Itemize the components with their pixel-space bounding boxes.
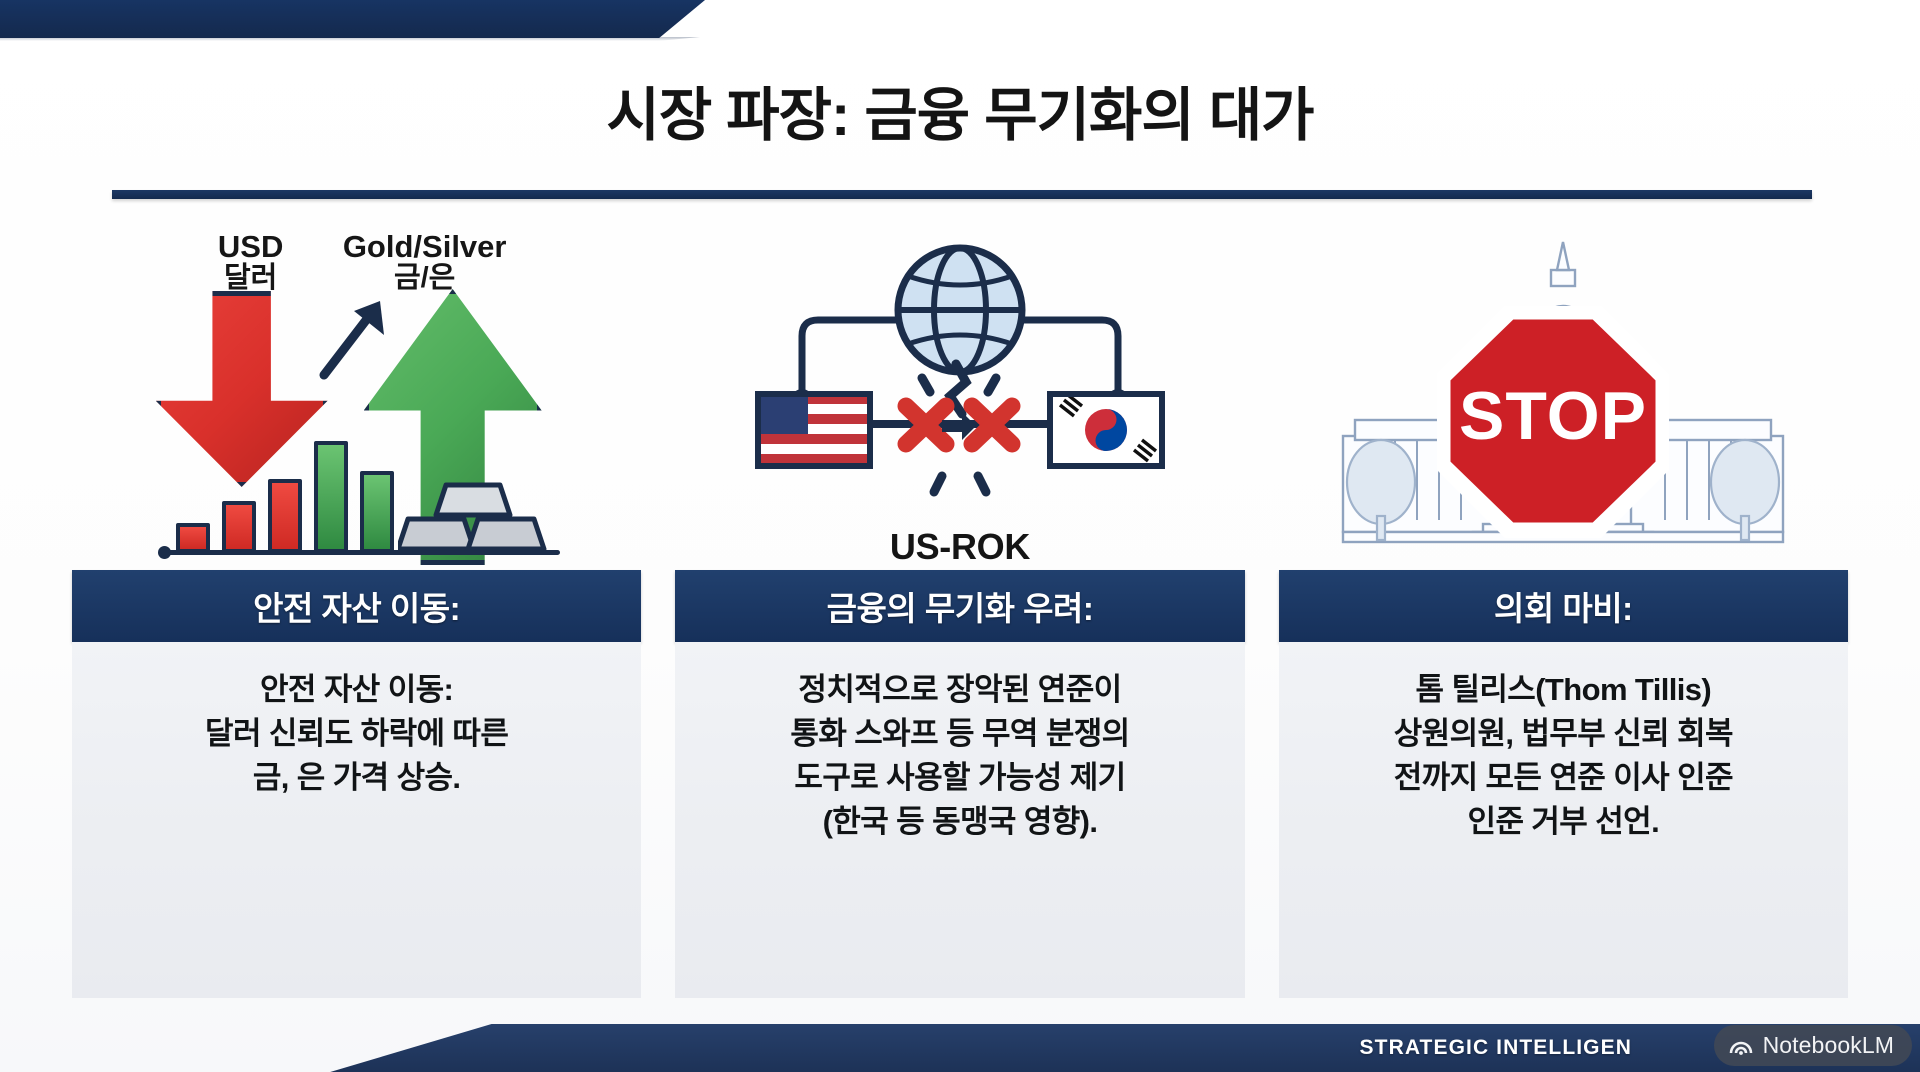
notebooklm-logo-icon	[1728, 1033, 1754, 1059]
globe-icon	[898, 248, 1022, 372]
card-body-text: 안전 자산 이동: 달러 신뢰도 하락에 따른 금, 은 가격 상승.	[86, 668, 627, 800]
korea-flag-icon	[1050, 394, 1162, 466]
alliance-network-diagram	[730, 224, 1190, 524]
label-gold-silver: Gold/Silver 금/은	[310, 231, 540, 293]
page-title: 시장 파장: 금융 무기화의 대가	[0, 68, 1920, 152]
notebooklm-label: NotebookLM	[1763, 1032, 1894, 1059]
title-divider	[112, 190, 1812, 199]
chart-baseline	[160, 550, 560, 555]
gold-bars-icon	[398, 479, 548, 553]
notebooklm-badge[interactable]: NotebookLM	[1714, 1025, 1912, 1066]
top-accent-band	[0, 0, 705, 38]
label-usd: USD 달러	[176, 231, 326, 293]
card-header-financial-weaponization: 금융의 무기화 우려:	[675, 570, 1244, 642]
card-body-financial-weaponization: 정치적으로 장악된 연준이 통화 스와프 등 무역 분쟁의 도구로 사용할 가능…	[675, 642, 1244, 998]
slide-root: 시장 파장: 금융 무기화의 대가 USD 달러 Gold/Silver 금/은	[0, 0, 1920, 1072]
card-header-label: 의회 마비:	[1494, 582, 1633, 630]
column-congress-paralysis: STOP STOP 의회 마비: 톰 틸리스(Thom Tillis) 상원의원…	[1279, 218, 1848, 998]
top-accent-band-shadow	[0, 37, 700, 41]
bar-5	[360, 471, 394, 553]
us-flag-icon	[758, 394, 870, 466]
label-usd-en: USD	[176, 231, 326, 263]
capitol-stop-graphic: STOP	[1333, 224, 1793, 564]
stop-sign-icon: STOP	[1437, 306, 1669, 538]
content-columns: USD 달러 Gold/Silver 금/은	[72, 218, 1848, 998]
bar-1	[176, 523, 210, 553]
trend-arrow-icon	[318, 295, 390, 381]
card-body-text: 정치적으로 장악된 연준이 통화 스와프 등 무역 분쟁의 도구로 사용할 가능…	[689, 668, 1230, 844]
column-financial-weaponization: US-ROK 금융의 무기화 우려: 정치적으로 장악된 연준이 통화 스와프 …	[675, 218, 1244, 998]
label-gold-silver-ko: 금/은	[310, 263, 540, 293]
card-header-safe-haven: 안전 자산 이동:	[72, 570, 641, 642]
label-us-rok: US-ROK	[730, 526, 1190, 568]
bar-3	[268, 479, 302, 553]
column-safe-haven: USD 달러 Gold/Silver 금/은	[72, 218, 641, 998]
card-header-label: 안전 자산 이동:	[253, 582, 460, 630]
illustration-broken-alliance: US-ROK	[675, 218, 1244, 570]
bar-chart-icon	[160, 427, 560, 559]
card-header-congress-paralysis: 의회 마비:	[1279, 570, 1848, 642]
label-usd-ko: 달러	[176, 263, 326, 293]
bar-2	[222, 501, 256, 553]
chart-origin-dot	[158, 546, 171, 559]
stop-sign-text: STOP	[1793, 224, 1794, 225]
illustration-market-shift: USD 달러 Gold/Silver 금/은	[72, 218, 641, 570]
label-gold-silver-en: Gold/Silver	[310, 231, 540, 263]
svg-text:STOP: STOP	[1459, 378, 1647, 454]
card-body-text: 톰 틸리스(Thom Tillis) 상원의원, 법무부 신뢰 회복 전까지 모…	[1293, 668, 1834, 844]
footer-brand-text: STRATEGIC INTELLIGEN	[1360, 1036, 1632, 1060]
bar-4	[314, 441, 348, 553]
bottom-accent-band	[0, 1024, 1920, 1072]
card-body-congress-paralysis: 톰 틸리스(Thom Tillis) 상원의원, 법무부 신뢰 회복 전까지 모…	[1279, 642, 1848, 998]
card-body-safe-haven: 안전 자산 이동: 달러 신뢰도 하락에 따른 금, 은 가격 상승.	[72, 642, 641, 998]
illustration-capitol-stop: STOP STOP	[1279, 218, 1848, 570]
card-header-label: 금융의 무기화 우려:	[827, 582, 1094, 630]
